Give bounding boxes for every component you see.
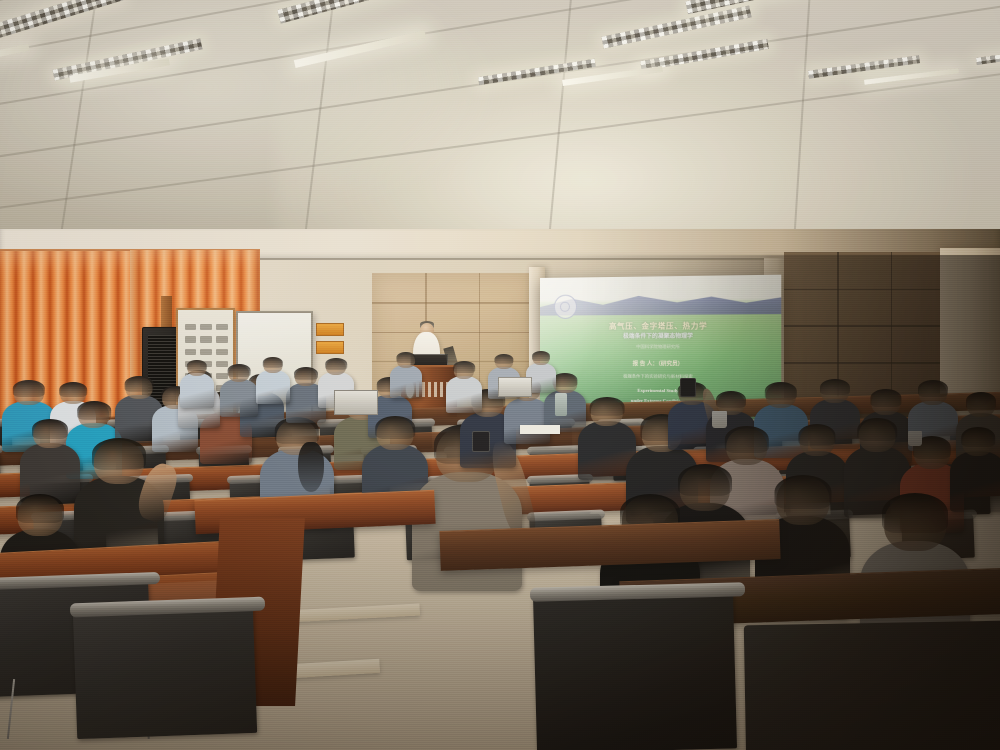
audience-member-hair [77,401,111,419]
audience-member [220,365,258,418]
acoustic-panel-seam-h [784,362,944,364]
audience-member-hair [453,361,475,373]
audience-member [20,420,80,503]
speaker-mount-bracket [161,296,172,331]
audience-member-hair [966,392,996,409]
audience-member-hair [961,427,995,447]
troffer-louvre-cross [976,44,1000,65]
wall-plaque-1 [316,323,344,336]
audience-member [180,360,214,408]
ceiling-troffer-light [976,44,1000,65]
audience-member-hair [798,424,835,446]
audience-member-hair [494,354,513,365]
audience-member-hair [32,419,68,439]
audience-member-torso [390,365,422,397]
acoustic-panel-seam-h [372,302,532,304]
slide-presenter-line: 报 告 人：（研究员） [540,361,781,368]
audience-member-torso [256,370,290,403]
university-seal-logo-icon [554,294,577,319]
audience-member-hair [725,426,769,453]
audience-member-hair [294,367,318,380]
audience-member-hair [820,379,850,396]
audience-member-torso [446,376,482,413]
foreground-chair-far-right[interactable] [744,620,1000,750]
audience-member-hair [92,438,146,470]
audience-member-torso [220,379,258,417]
acoustic-panel-seam-h [784,325,944,327]
audience-member-hair [187,360,207,372]
audience-member-hair [375,416,415,439]
audience-member-hair [882,493,948,533]
wall-plaque-2 [316,341,344,354]
audience-member-hair [228,364,251,377]
audience-member-hair [716,391,746,408]
acoustic-panel-seam-h [372,332,532,334]
water-bottle [555,393,567,416]
audience-member-torso [180,373,214,408]
audience-member-hair [552,373,577,387]
audience-member-hair [857,418,897,442]
audience-member-hair [59,382,87,397]
audience-member-hair [396,352,415,363]
audience-member-hair [918,380,948,397]
audience-member-hair [263,357,283,368]
audience-member [446,362,482,413]
handout-papers [520,425,560,434]
audience-member [256,357,290,404]
audience-member-hair [774,475,831,509]
audience-member-hair [16,494,64,523]
audience-member-hair [870,389,901,407]
audience-member-hair [590,397,625,417]
open-laptop [334,390,378,415]
acoustic-panel-seam-h [784,289,944,291]
slide-title-line-2: 极端条件下的凝聚态物理学 [540,334,781,340]
lecture-hall-photo: 高气压、金字塔压、热力学 极端条件下的凝聚态物理学 中国科学院物理研究所 报 告… [0,0,1000,750]
audience-member-hair [678,464,732,496]
slide-subtitle-line: 中国科学院物理研究所 [540,344,781,349]
smartphone-held-up [680,378,696,397]
audience-member [390,353,422,398]
smartphone-held-up [472,431,490,452]
audience-member-ponytail [298,442,323,492]
open-laptop [498,377,532,397]
audience-member-hair [125,376,154,392]
paper-cup [908,431,922,446]
paper-cup [712,411,727,428]
foreground-chair-center[interactable] [73,604,257,738]
audience-member-hair [325,358,347,370]
slide-title-line-1: 高气压、金字塔压、热力学 [540,321,781,330]
foreground-chair-right[interactable] [533,590,737,750]
audience-member-torso [20,443,80,502]
audience-member-hair [13,380,45,397]
audience-member-hair [765,382,797,400]
audience-member-hair [532,351,550,361]
